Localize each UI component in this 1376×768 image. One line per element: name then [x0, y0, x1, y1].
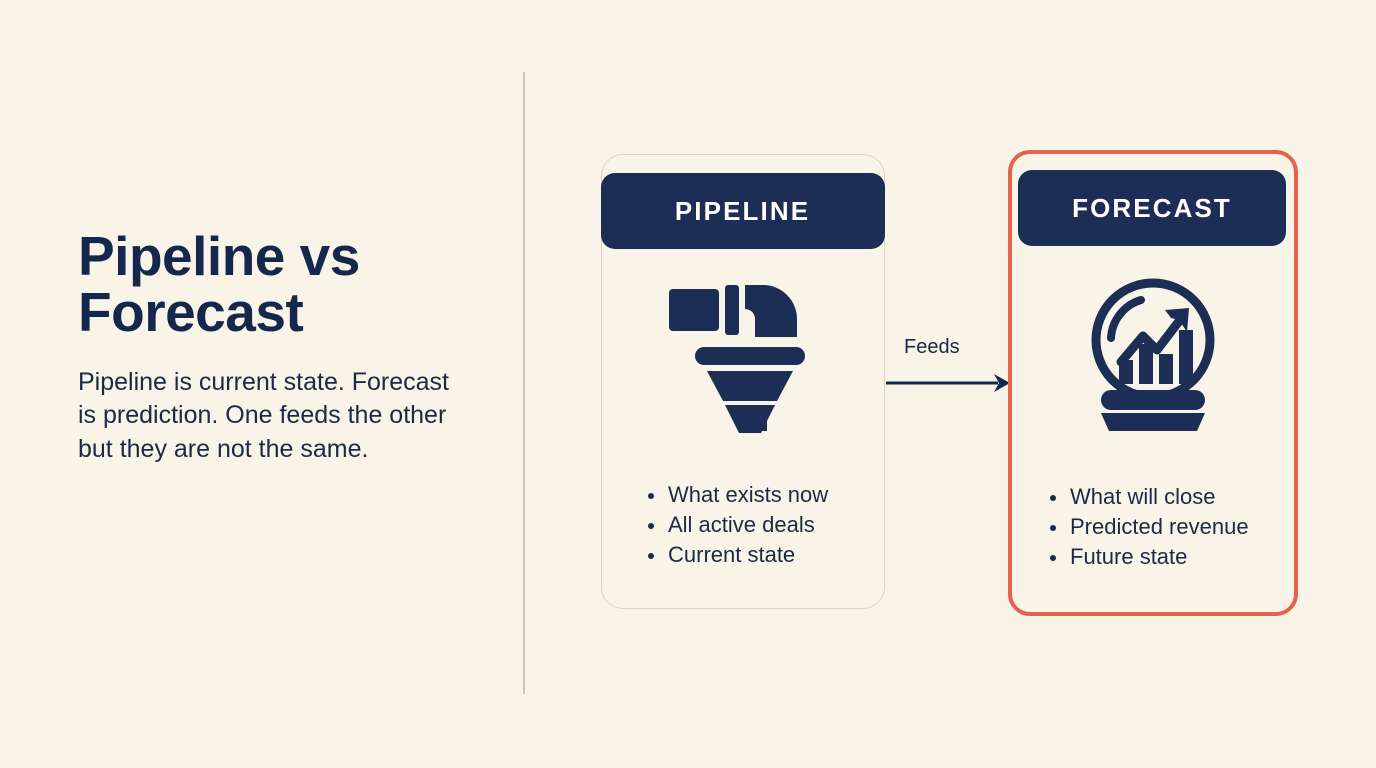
card-forecast[interactable]: FORECAST: [1008, 150, 1298, 616]
card-pipeline-header: PIPELINE: [601, 173, 885, 249]
card-pipeline[interactable]: PIPELINE: [601, 154, 885, 609]
pipe-funnel-icon: [602, 275, 884, 435]
list-item: Predicted revenue: [1048, 512, 1249, 542]
card-pipeline-bullet-list: What exists now All active deals Current…: [646, 480, 828, 570]
connector-feeds: Feeds: [886, 336, 1012, 396]
slide-canvas: Pipeline vs Forecast Pipeline is current…: [0, 0, 1376, 768]
list-item: What will close: [1048, 482, 1249, 512]
list-item: Current state: [646, 540, 828, 570]
arrow-right-icon: [886, 368, 1012, 398]
connector-label: Feeds: [904, 336, 960, 359]
list-item: Future state: [1048, 542, 1249, 572]
list-item: What exists now: [646, 480, 828, 510]
crystal-ball-chart-icon: [1012, 272, 1294, 432]
list-item: All active deals: [646, 510, 828, 540]
page-title: Pipeline vs Forecast: [78, 228, 478, 340]
card-pipeline-title: PIPELINE: [675, 196, 810, 227]
card-forecast-title: FORECAST: [1072, 193, 1232, 224]
page-subtitle: Pipeline is current state. Forecast is p…: [78, 366, 453, 466]
vertical-divider: [523, 72, 525, 694]
card-forecast-bullet-list: What will close Predicted revenue Future…: [1048, 482, 1249, 572]
left-text-panel: Pipeline vs Forecast Pipeline is current…: [78, 228, 478, 466]
card-forecast-header: FORECAST: [1018, 170, 1286, 246]
